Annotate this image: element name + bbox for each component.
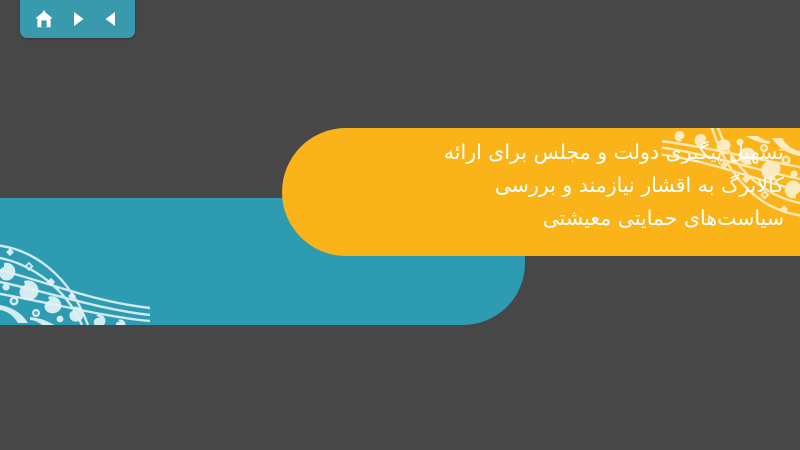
- slide-canvas: تسهیل پیگیری دولت و مجلس برای ارائه کالا…: [0, 0, 800, 450]
- arabesque-ornament-icon: [0, 205, 150, 325]
- yellow-title-panel: [282, 128, 800, 256]
- home-button[interactable]: [29, 6, 59, 32]
- navigation-bar: [20, 0, 135, 38]
- back-button[interactable]: [96, 6, 126, 32]
- forward-icon: [69, 10, 87, 28]
- home-icon: [34, 10, 54, 29]
- arabesque-ornament-icon: [662, 128, 800, 256]
- back-icon: [102, 10, 120, 28]
- forward-button[interactable]: [63, 6, 93, 32]
